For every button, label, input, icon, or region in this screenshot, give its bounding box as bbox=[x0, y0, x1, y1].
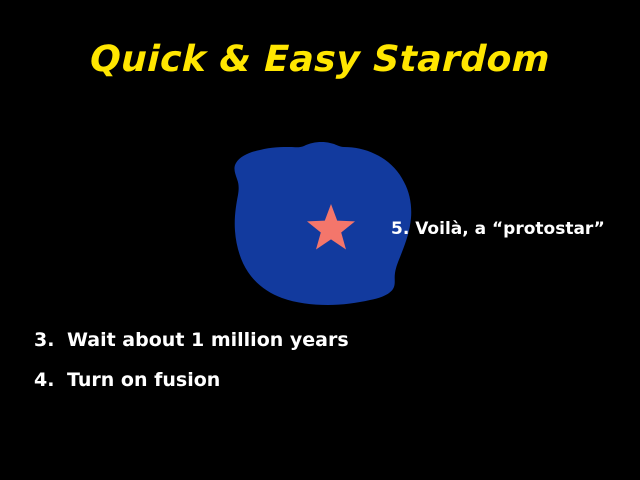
slide-title: Quick & Easy Stardom bbox=[0, 38, 640, 82]
list-item-label: Wait about 1 million years bbox=[67, 320, 349, 360]
list-item: 3. Wait about 1 million years bbox=[34, 320, 454, 360]
presentation-slide: Quick & Easy Stardom 5. Voilà, a “protos… bbox=[0, 0, 640, 480]
step-list: 3. Wait about 1 million years 4. Turn on… bbox=[34, 320, 454, 400]
list-item-number: 3. bbox=[34, 320, 67, 360]
star-icon bbox=[306, 203, 356, 251]
star-shape bbox=[306, 203, 356, 251]
list-item-label: Turn on fusion bbox=[67, 360, 220, 400]
protostar-callout-label: 5. Voilà, a “protostar” bbox=[391, 218, 605, 240]
list-item: 4. Turn on fusion bbox=[34, 360, 454, 400]
list-item-number: 4. bbox=[34, 360, 67, 400]
